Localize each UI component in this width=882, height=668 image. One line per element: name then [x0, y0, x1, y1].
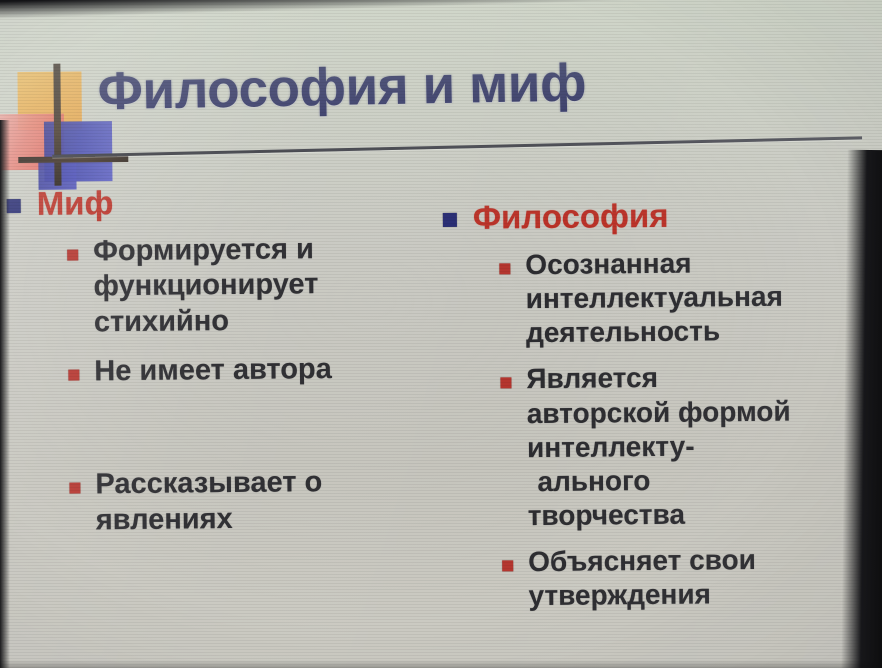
slide-photo: Философия и миф Миф Формируется и функци… — [0, 0, 882, 668]
red-square-bullet-icon — [499, 263, 510, 274]
list-item-line: функционирует — [93, 268, 318, 306]
list-item-line: Является — [526, 361, 658, 396]
list-item-text: Осознанная интеллектуальная деятельность — [525, 246, 783, 351]
list-item-text: Является авторской формой интеллекту- ал… — [526, 360, 792, 533]
list-item-line: Формируется и — [93, 232, 314, 269]
list-item-line: интеллекту- — [527, 429, 695, 465]
title-divider — [52, 136, 862, 157]
list-item: Осознанная интеллектуальная деятельность — [499, 245, 859, 351]
navy-square-bullet-icon — [443, 213, 457, 227]
list-item-line: интеллектуальная — [525, 280, 783, 317]
heading-label: Миф — [37, 185, 114, 223]
list-item-text: Формируется и функционирует стихийно — [93, 232, 319, 340]
list-item: Не имеет автора — [68, 351, 428, 390]
slide-content: Философия и миф Миф Формируется и функци… — [0, 0, 882, 668]
red-square-bullet-icon — [500, 378, 511, 389]
red-square-bullet-icon — [69, 483, 80, 494]
list-item-line: утверждения — [528, 578, 711, 614]
list-item-line: творчества — [528, 498, 686, 534]
red-square-bullet-icon — [502, 561, 513, 572]
heading-label: Философия — [473, 198, 669, 237]
screen-edge-bottom — [0, 660, 882, 668]
list-item-line: Рассказывает о — [95, 466, 322, 504]
slide-surface: Философия и миф Миф Формируется и функци… — [0, 0, 882, 668]
list-item: Рассказывает о явлениях — [69, 465, 430, 539]
list-item-line: авторской формой — [527, 394, 791, 431]
list-item-line: Осознанная — [525, 247, 692, 283]
list-item: Является авторской формой интеллекту- ал… — [500, 359, 861, 533]
column-myth: Миф Формируется и функционирует стихийно — [7, 182, 430, 539]
list-item: Формируется и функционирует стихийно — [67, 231, 428, 341]
myth-bullet-list: Формируется и функционирует стихийно Не … — [67, 231, 430, 539]
list-item-line: Объясняет свои — [528, 543, 756, 579]
list-item: Объясняет свои утверждения — [502, 542, 862, 614]
list-item-line: деятельность — [526, 315, 720, 351]
vertical-bar-icon — [53, 64, 61, 186]
column-philosophy: Философия Осознанная интеллектуальная де… — [443, 196, 862, 614]
philosophy-bullet-list: Осознанная интеллектуальная деятельность… — [499, 245, 861, 614]
column-heading-myth: Миф — [7, 182, 427, 223]
screen-edge-left — [0, 120, 10, 668]
list-item-text: Объясняет свои утверждения — [528, 543, 756, 613]
list-item-line: ального — [527, 464, 650, 499]
screen-edge-right — [841, 150, 882, 668]
red-square-bullet-icon — [68, 370, 79, 381]
list-item-line: стихийно — [94, 304, 230, 341]
list-item-line: Не имеет автора — [94, 352, 332, 390]
red-square-bullet-icon — [67, 249, 78, 260]
list-item-text: Не имеет автора — [94, 352, 332, 390]
column-heading-philosophy: Философия — [443, 196, 858, 237]
slide-title: Философия и миф — [97, 52, 798, 120]
list-item-line: явлениях — [96, 502, 233, 539]
list-item-text: Рассказывает о явлениях — [95, 466, 322, 539]
